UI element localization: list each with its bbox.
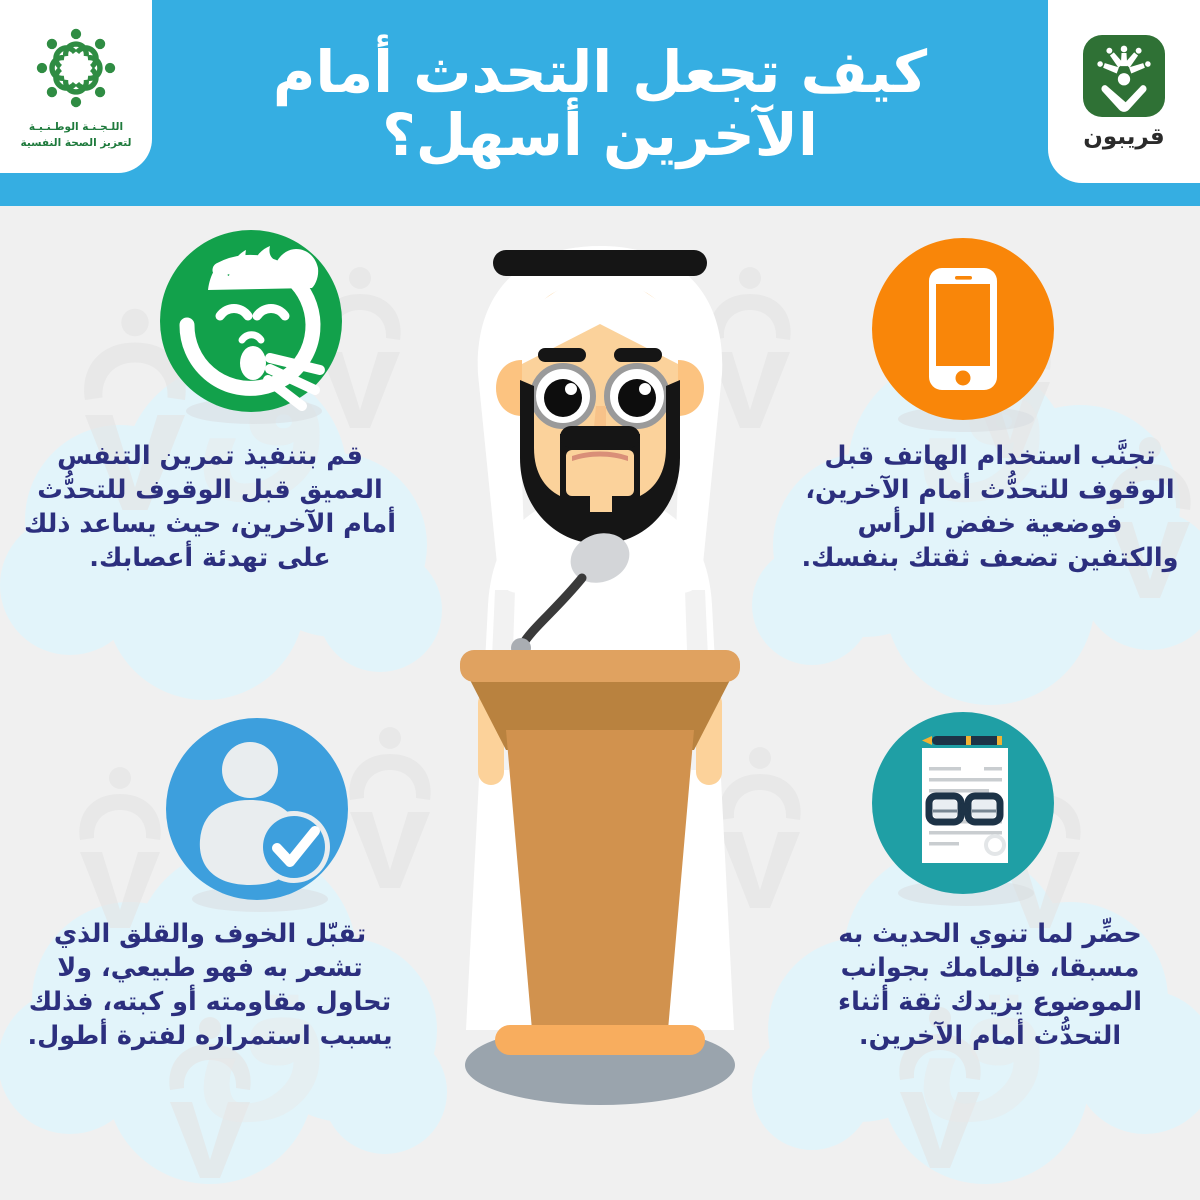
page-title-line2: الآخرين أسهل؟ bbox=[382, 106, 818, 165]
qareeboon-caption: قريبون bbox=[1083, 126, 1164, 149]
page-title: كيف تجعل التحدث أمام الآخرين أسهل؟ bbox=[160, 6, 1040, 202]
tip1-text: قم بتنفيذ تمرين التنفس العميق قبل الوقوف… bbox=[22, 440, 398, 576]
tip2-icon-smartphone-icon bbox=[872, 238, 1054, 420]
qareeboon-tile-icon bbox=[1083, 35, 1165, 117]
committee-caption: اللـجـنـة الوطـنـيـة لتعزيز الصحة النفسي… bbox=[20, 120, 131, 150]
tip4-text: حضِّر لما تنوي الحديث به مسبقا، فإلمامك … bbox=[798, 918, 1182, 1054]
committee-emblem-icon bbox=[30, 22, 122, 114]
deep-breathing-face-glyph bbox=[160, 230, 342, 412]
qareeboon-person-icon bbox=[1083, 35, 1165, 117]
national-committee-logo: اللـجـنـة الوطـنـيـة لتعزيز الصحة النفسي… bbox=[0, 0, 152, 173]
document-pen-glasses-glyph bbox=[872, 712, 1054, 894]
tip4-icon-document-pen-glasses-icon bbox=[872, 712, 1054, 894]
qareeboon-logo: قريبون bbox=[1048, 0, 1200, 183]
page-title-line1: كيف تجعل التحدث أمام bbox=[273, 43, 927, 102]
infographic-canvas: ق ق ق ق اللـ bbox=[0, 0, 1200, 1200]
smartphone-glyph bbox=[872, 238, 1054, 420]
person-check-glyph bbox=[166, 718, 348, 900]
right-eyebrow bbox=[614, 348, 662, 362]
tip2-text: تجنَّب استخدام الهاتف قبل الوقوف للتحدُّ… bbox=[798, 440, 1182, 576]
committee-caption-line1: اللـجـنـة الوطـنـيـة bbox=[20, 120, 131, 135]
man-speaking-at-podium-illustration bbox=[360, 210, 840, 1110]
igal-band bbox=[493, 250, 707, 276]
tip3-text: تقبّل الخوف والقلق الذي تشعر به فهو طبيع… bbox=[22, 918, 398, 1054]
tip1-icon-deep-breathing-face-icon bbox=[160, 230, 342, 412]
committee-caption-line2: لتعزيز الصحة النفسية bbox=[20, 136, 131, 151]
tip3-icon-person-check-icon bbox=[166, 718, 348, 900]
left-eyebrow bbox=[538, 348, 586, 362]
